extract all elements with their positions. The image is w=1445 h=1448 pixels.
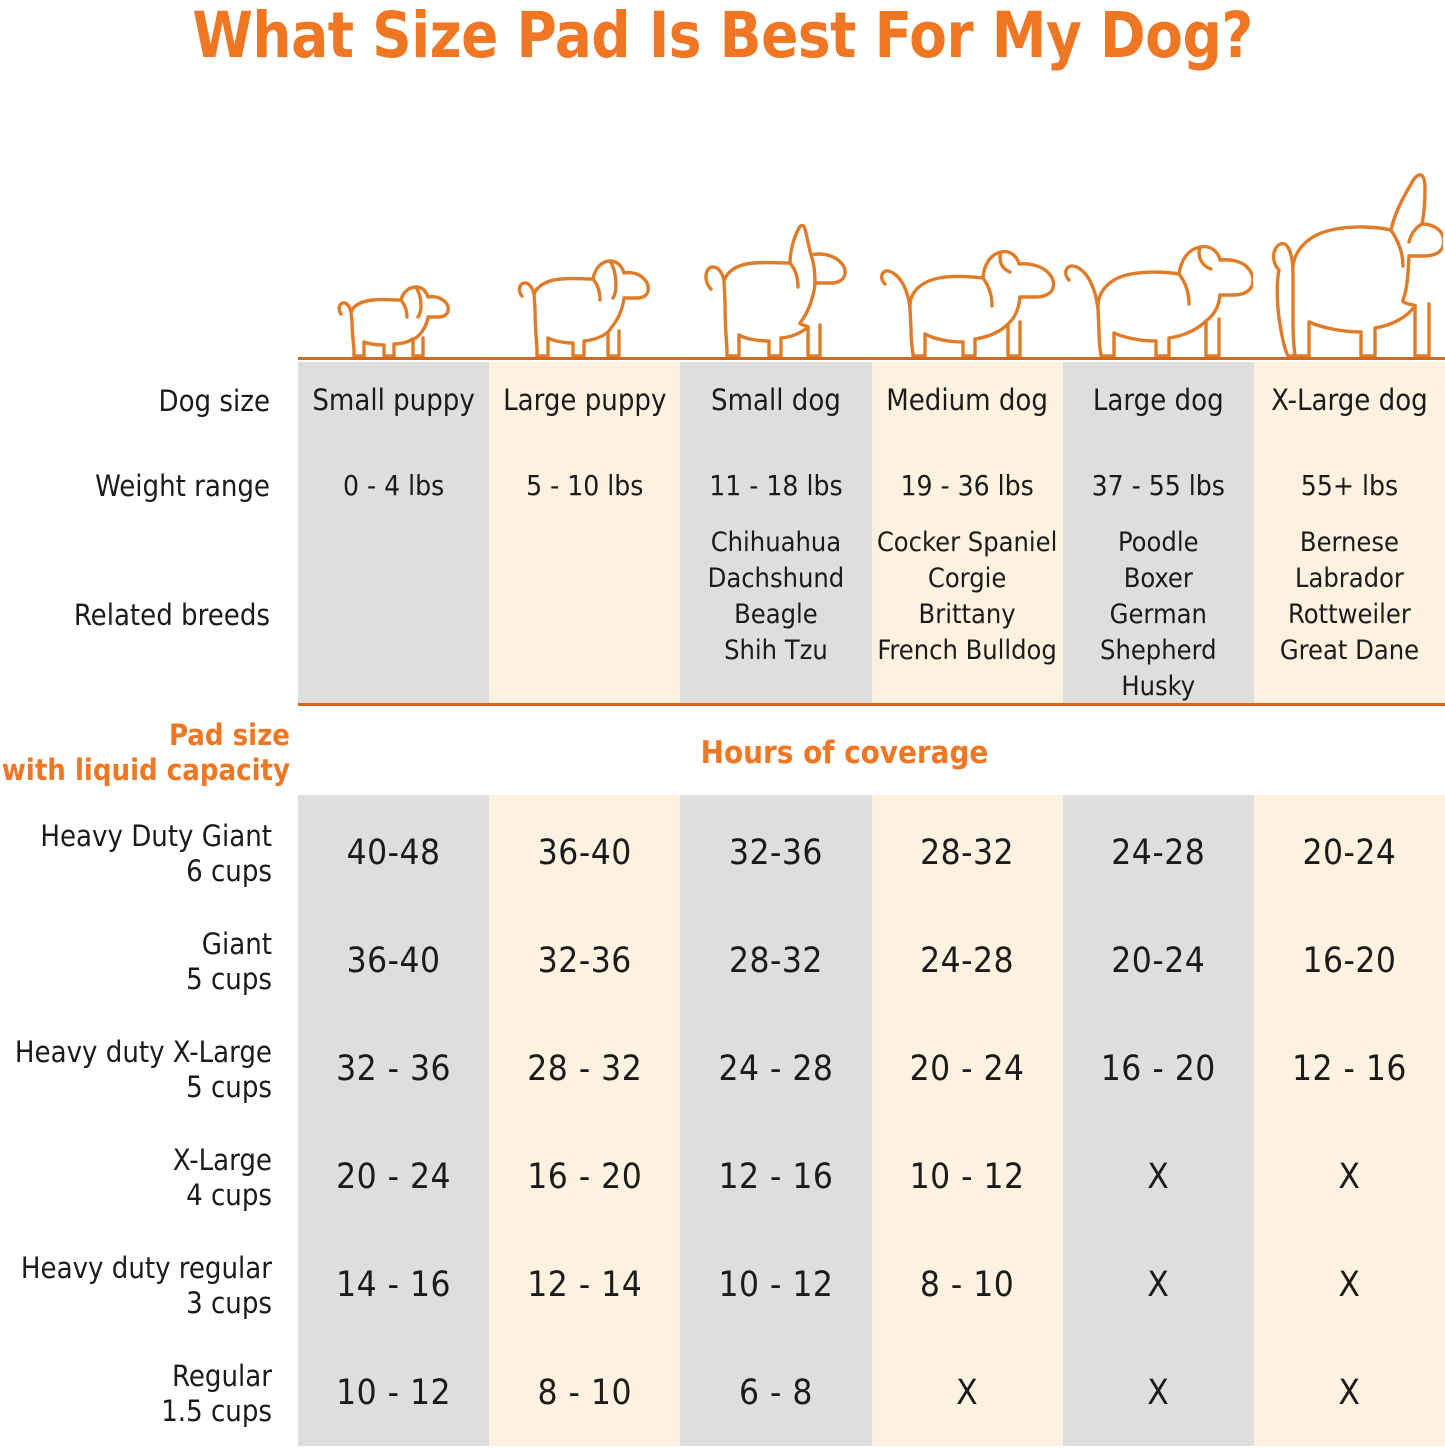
- table-row: Heavy duty X-Large 5 cups 32 - 36 28 - 3…: [0, 1016, 1445, 1124]
- section-header-pad-size: Pad size with liquid capacity: [0, 718, 298, 788]
- top-divider-rule: [298, 357, 1445, 360]
- cell-weight-4: 19 - 36 lbs: [872, 468, 1063, 504]
- cell-weight-5: 37 - 55 lbs: [1063, 468, 1254, 504]
- pad-cell: 36-40: [298, 939, 489, 985]
- cell-dog-size-4: Medium dog: [872, 382, 1063, 420]
- pad-cell: 20-24: [1254, 831, 1445, 877]
- pad-cell: 28-32: [872, 831, 1063, 877]
- pad-cell: 24-28: [872, 939, 1063, 985]
- section-header-hours-of-coverage: Hours of coverage: [271, 735, 1418, 771]
- pad-cell: 32 - 36: [298, 1047, 489, 1093]
- row-label-weight-range: Weight range: [0, 468, 298, 505]
- table-row-related-breeds: Related breeds Chihuahua Dachshund Beagl…: [0, 534, 1445, 696]
- pad-cell: X: [1063, 1263, 1254, 1309]
- pad-cell: 28 - 32: [489, 1047, 680, 1093]
- pad-row-label: Heavy duty regular 3 cups: [0, 1251, 298, 1322]
- pad-cell: 16 - 20: [489, 1155, 680, 1201]
- cell-weight-3: 11 - 18 lbs: [680, 468, 871, 504]
- cell-breeds-2: [489, 525, 680, 705]
- pad-cell: 16-20: [1254, 939, 1445, 985]
- pad-cell: 10 - 12: [872, 1155, 1063, 1201]
- pad-row-cells: 40-48 36-40 32-36 28-32 24-28 20-24: [298, 831, 1445, 877]
- pad-cell: 6 - 8: [680, 1371, 871, 1417]
- row-label-related-breeds: Related breeds: [0, 597, 298, 634]
- page-title: What Size Pad Is Best For My Dog?: [22, 4, 1424, 67]
- medium-dog-icon: [879, 234, 1055, 358]
- pad-cell: X: [872, 1371, 1063, 1417]
- table-row: Heavy duty regular 3 cups 14 - 16 12 - 1…: [0, 1232, 1445, 1340]
- pad-cell: 12 - 16: [1254, 1047, 1445, 1093]
- pad-cell: 32-36: [680, 831, 871, 877]
- pad-cell: 20 - 24: [298, 1155, 489, 1201]
- row-label-dog-size: Dog size: [0, 383, 298, 420]
- dog-cell-x-large-dog: [1254, 150, 1445, 358]
- large-puppy-dog-icon: [514, 248, 656, 358]
- row-cells-dog-size: Small puppy Large puppy Small dog Medium…: [298, 382, 1445, 420]
- cell-dog-size-5: Large dog: [1063, 382, 1254, 420]
- table-row: Giant 5 cups 36-40 32-36 28-32 24-28 20-…: [0, 908, 1445, 1016]
- cell-weight-6: 55+ lbs: [1254, 468, 1445, 504]
- x-large-dog-icon: [1255, 170, 1443, 358]
- pad-cell: 8 - 10: [489, 1371, 680, 1417]
- pad-cell: 12 - 16: [680, 1155, 871, 1201]
- dog-cell-small-dog: [680, 150, 871, 358]
- dog-cell-large-dog: [1063, 150, 1254, 358]
- pad-cell: 24 - 28: [680, 1047, 871, 1093]
- cell-weight-1: 0 - 4 lbs: [298, 468, 489, 504]
- pad-cell: 10 - 12: [298, 1371, 489, 1417]
- pad-cell: X: [1254, 1155, 1445, 1201]
- pad-row-cells: 32 - 36 28 - 32 24 - 28 20 - 24 16 - 20 …: [298, 1047, 1445, 1093]
- pad-cell: 20-24: [1063, 939, 1254, 985]
- dog-cell-large-puppy: [489, 150, 680, 358]
- pad-cell: X: [1254, 1371, 1445, 1417]
- cell-dog-size-6: X-Large dog: [1254, 382, 1445, 420]
- table-row: X-Large 4 cups 20 - 24 16 - 20 12 - 16 1…: [0, 1124, 1445, 1232]
- cell-dog-size-2: Large puppy: [489, 382, 680, 420]
- dog-cell-small-puppy: [298, 150, 489, 358]
- pad-cell: 20 - 24: [872, 1047, 1063, 1093]
- table-row-weight-range: Weight range 0 - 4 lbs 5 - 10 lbs 11 - 1…: [0, 466, 1445, 506]
- pad-cell: X: [1063, 1155, 1254, 1201]
- pad-cell: 10 - 12: [680, 1263, 871, 1309]
- pad-row-label: Giant 5 cups: [0, 927, 298, 998]
- pad-row-cells: 14 - 16 12 - 14 10 - 12 8 - 10 X X: [298, 1263, 1445, 1309]
- row-cells-weight-range: 0 - 4 lbs 5 - 10 lbs 11 - 18 lbs 19 - 36…: [298, 468, 1445, 504]
- pad-cell: 28-32: [680, 939, 871, 985]
- pad-row-cells: 36-40 32-36 28-32 24-28 20-24 16-20: [298, 939, 1445, 985]
- pad-cell: 14 - 16: [298, 1263, 489, 1309]
- large-dog-icon: [1063, 224, 1253, 358]
- cell-breeds-5: Poodle Boxer German Shepherd Husky: [1063, 525, 1254, 705]
- pad-cell: 36-40: [489, 831, 680, 877]
- pad-cell: 32-36: [489, 939, 680, 985]
- pad-cell: 24-28: [1063, 831, 1254, 877]
- dog-silhouette-strip: [298, 150, 1445, 358]
- pad-cell: 8 - 10: [872, 1263, 1063, 1309]
- cell-breeds-6: Bernese Labrador Rottweiler Great Dane: [1254, 525, 1445, 705]
- pad-row-cells: 20 - 24 16 - 20 12 - 16 10 - 12 X X: [298, 1155, 1445, 1201]
- pad-cell: X: [1254, 1263, 1445, 1309]
- table-row-dog-size: Dog size Small puppy Large puppy Small d…: [0, 379, 1445, 423]
- pad-row-label: Heavy Duty Giant 6 cups: [0, 819, 298, 890]
- cell-breeds-4: Cocker Spaniel Corgie Brittany French Bu…: [872, 525, 1063, 705]
- cell-breeds-1: [298, 525, 489, 705]
- dog-cell-medium-dog: [872, 150, 1063, 358]
- table-row: Heavy Duty Giant 6 cups 40-48 36-40 32-3…: [0, 800, 1445, 908]
- row-cells-related-breeds: Chihuahua Dachshund Beagle Shih Tzu Cock…: [298, 525, 1445, 705]
- pad-cell: 40-48: [298, 831, 489, 877]
- table-row: Regular 1.5 cups 10 - 12 8 - 10 6 - 8 X …: [0, 1340, 1445, 1448]
- small-puppy-dog-icon: [331, 266, 457, 358]
- cell-breeds-3: Chihuahua Dachshund Beagle Shih Tzu: [680, 525, 871, 705]
- pad-row-label: Regular 1.5 cups: [0, 1359, 298, 1430]
- small-dog-icon: [698, 223, 854, 358]
- pad-cell: 16 - 20: [1063, 1047, 1254, 1093]
- pad-cell: 12 - 14: [489, 1263, 680, 1309]
- pad-row-label: X-Large 4 cups: [0, 1143, 298, 1214]
- pad-row-cells: 10 - 12 8 - 10 6 - 8 X X X: [298, 1371, 1445, 1417]
- pad-cell: X: [1063, 1371, 1254, 1417]
- cell-dog-size-1: Small puppy: [298, 382, 489, 420]
- cell-weight-2: 5 - 10 lbs: [489, 468, 680, 504]
- pad-row-label: Heavy duty X-Large 5 cups: [0, 1035, 298, 1106]
- cell-dog-size-3: Small dog: [680, 382, 871, 420]
